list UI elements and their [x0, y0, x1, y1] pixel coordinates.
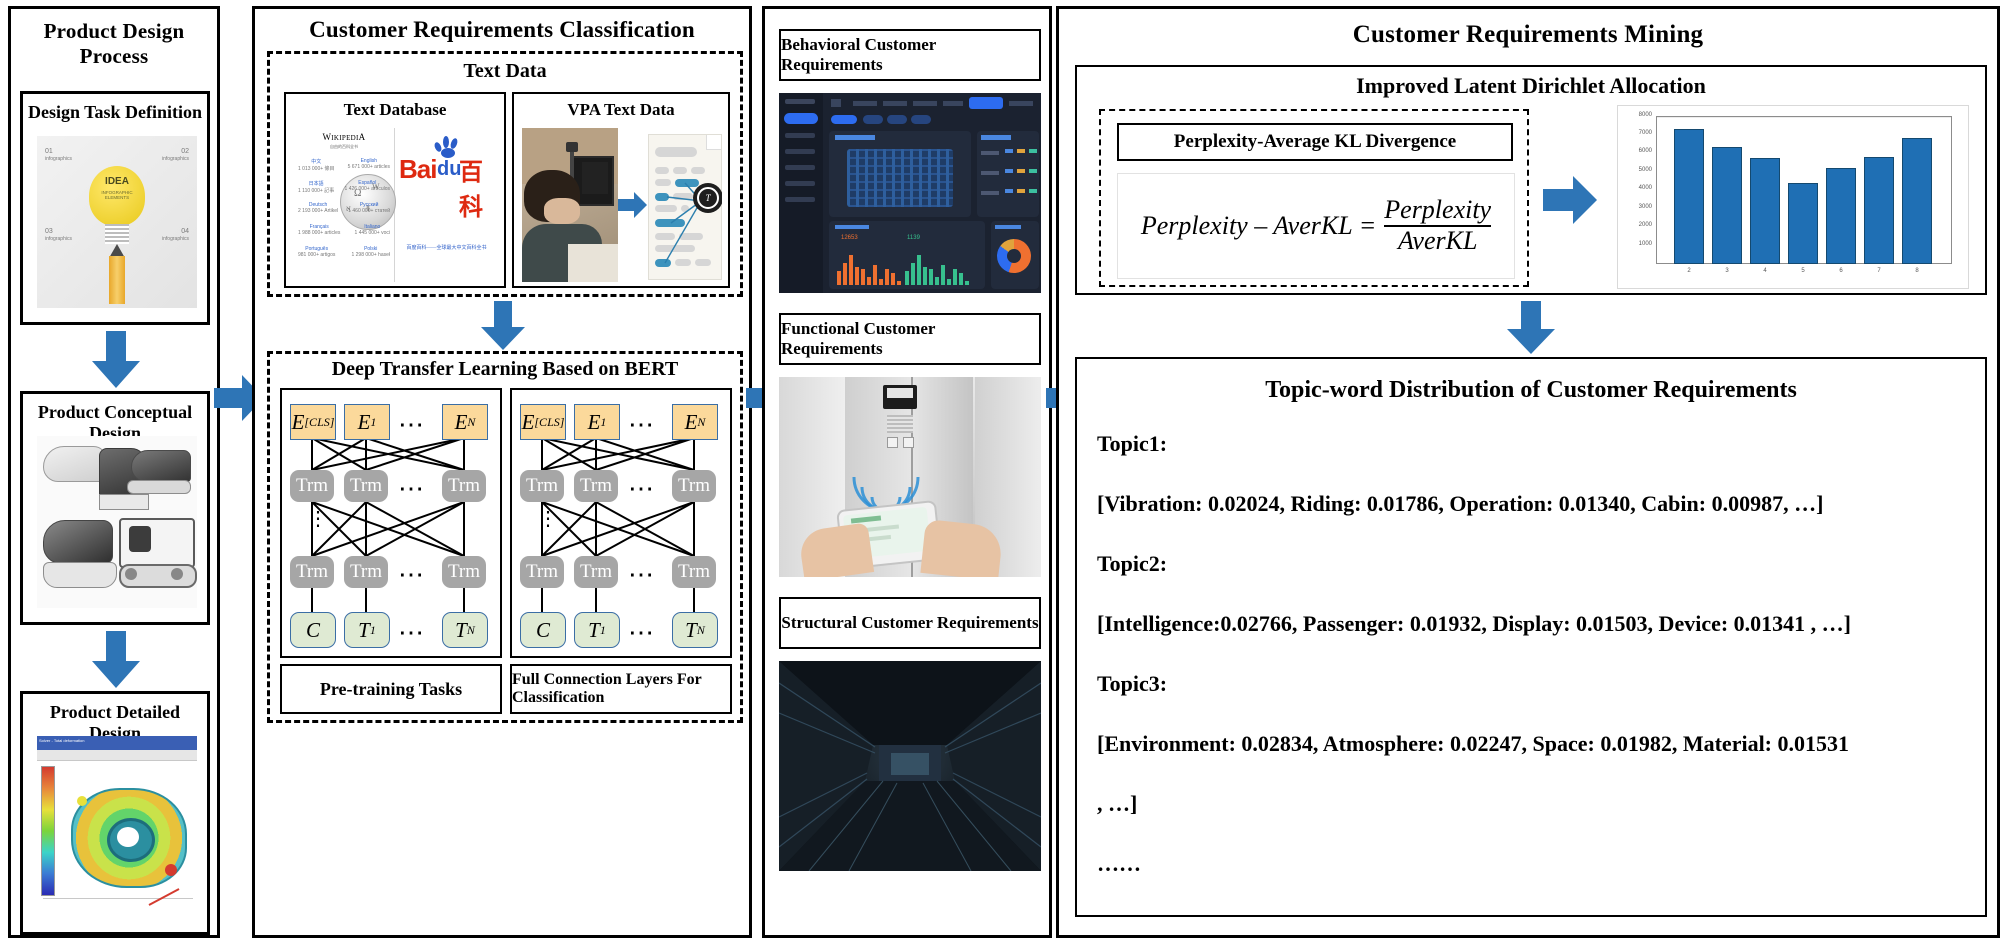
- group-improved-lda: Improved Latent Dirichlet Allocation Per…: [1075, 65, 1987, 295]
- bert-input-1-left: E1: [344, 404, 390, 440]
- panel-title-customer-requirements-classification: Customer Requirements Classification: [255, 17, 749, 43]
- bert-output-label: T: [358, 618, 370, 643]
- chart-gridline: [1657, 117, 1951, 118]
- panel-product-design-process: Product Design Process Design Task Defin…: [8, 6, 220, 938]
- chart-perplexity-averkl: 8000 7000 6000 5000 4000 3000 2000 1000 …: [1617, 105, 1969, 289]
- bert-input-cls-right: E[CLS]: [520, 404, 566, 440]
- step-product-conceptual-design: Product Conceptual Design: [20, 391, 210, 625]
- bert-block-pretraining: E[CLS] E1 ⋯ EN Trm Trm ⋯ Trm ⋮ Trm Trm ⋯…: [280, 388, 502, 658]
- chart-xtick: 8: [1902, 268, 1932, 274]
- chart-xtick: 7: [1864, 268, 1894, 274]
- chart-bar: [1864, 157, 1894, 264]
- arrow-right-formula-to-chart: [1543, 173, 1599, 227]
- chart-xtick: 5: [1788, 268, 1818, 274]
- bert-vertical-ellipsis-left: ⋮: [308, 516, 328, 523]
- bert-input-label: E: [588, 410, 601, 435]
- bert-output-c-left: C: [290, 612, 336, 648]
- bert-input-n-left: EN: [442, 404, 488, 440]
- chart-ytick: 1000: [1624, 241, 1652, 247]
- bert-output-ellipsis-left: ⋯: [398, 620, 427, 646]
- panel-requirement-types: Behavioral Customer Requirements: [762, 6, 1052, 938]
- bert-output-sub: 1: [370, 623, 376, 638]
- chart-bar: [1902, 138, 1932, 264]
- topic-body: [Intelligence:0.02766, Passenger: 0.0193…: [1097, 611, 1969, 637]
- image-wikipedia-baidu-baike-logos: WIKIPEDIA 自由的百科全书 Ω W Ⅱ א 中文1 013 000+ 條…: [294, 128, 498, 282]
- chart-xtick: 2: [1674, 268, 1704, 274]
- image-elevator-door-with-smartphone-call: [779, 377, 1041, 577]
- bert-output-sub: N: [467, 623, 475, 638]
- bert-input-1-right: E1: [574, 404, 620, 440]
- group-title-improved-lda: Improved Latent Dirichlet Allocation: [1077, 73, 1985, 99]
- chart-xtick: 4: [1750, 268, 1780, 274]
- step-label-design-task-definition: Design Task Definition: [23, 102, 207, 123]
- group-deep-transfer-learning-bert: Deep Transfer Learning Based on BERT: [267, 351, 743, 723]
- group-topic-word-distribution: Topic-word Distribution of Customer Requ…: [1075, 357, 1987, 917]
- topic-heading: Topic1:: [1097, 431, 1969, 457]
- topic-body: [Vibration: 0.02024, Riding: 0.01786, Op…: [1097, 491, 1969, 517]
- bert-output-t1-left: T1: [344, 612, 390, 648]
- step-design-task-definition: Design Task Definition 01infographics 02…: [20, 91, 210, 325]
- image-excavator-concept-sketches: [37, 436, 197, 608]
- bert-trm-row1-coln-right: Trm: [672, 470, 716, 502]
- chart-ytick: 8000: [1624, 112, 1652, 118]
- chart-bar: [1750, 158, 1780, 264]
- figure-canvas: Product Design Process Design Task Defin…: [0, 0, 2007, 944]
- bert-trm-row2-col2-left: Trm: [344, 556, 388, 588]
- topic-list: Topic1: [Vibration: 0.02024, Riding: 0.0…: [1097, 431, 1969, 877]
- arrow-down-2: [88, 631, 144, 689]
- bert-output-label: C: [306, 618, 320, 643]
- bert-trm-row2-col1-left: Trm: [290, 556, 334, 588]
- bert-output-t1-right: T1: [574, 612, 620, 648]
- image-dark-analytics-dashboard: 12653 1139: [779, 93, 1041, 293]
- bert-output-tn-left: TN: [442, 612, 488, 648]
- topic-body: [Environment: 0.02834, Atmosphere: 0.022…: [1097, 731, 1969, 757]
- formula-left-side: Perplexity – AverKL =: [1141, 211, 1376, 241]
- bert-input-label: E: [292, 410, 305, 435]
- topic-heading: Topic3:: [1097, 671, 1969, 697]
- bert-input-sub: N: [467, 415, 475, 430]
- bert-trm-row1-col2-left: Trm: [344, 470, 388, 502]
- chart-xtick: 6: [1826, 268, 1856, 274]
- bert-output-label: T: [455, 618, 467, 643]
- arrow-down-1: [88, 331, 144, 389]
- chart-bar: [1826, 168, 1856, 264]
- bert-input-cls-left: E[CLS]: [290, 404, 336, 440]
- bert-trm-row1-ellipsis-right: ⋯: [628, 476, 657, 502]
- bert-input-label: E: [455, 410, 468, 435]
- bert-trm-row2-coln-right: Trm: [672, 556, 716, 588]
- formula-denominator: AverKL: [1398, 227, 1477, 256]
- gear-icon: T: [693, 183, 722, 213]
- chart-bar: [1788, 183, 1818, 264]
- group-title-bert: Deep Transfer Learning Based on BERT: [270, 358, 740, 381]
- bert-trm-row1-col2-right: Trm: [574, 470, 618, 502]
- bert-output-c-right: C: [520, 612, 566, 648]
- bert-input-sub: 1: [600, 415, 606, 430]
- bert-output-tn-right: TN: [672, 612, 718, 648]
- panel-title-product-design-process: Product Design Process: [11, 19, 217, 69]
- group-title-topic-word-distribution: Topic-word Distribution of Customer Requ…: [1077, 377, 1985, 404]
- bert-output-sub: 1: [600, 623, 606, 638]
- image-dark-corridor-interior: [779, 661, 1041, 871]
- chart-bar: [1712, 147, 1742, 264]
- bert-output-label: T: [588, 618, 600, 643]
- step-product-detailed-design: Product Detailed Design Solver - Total d…: [20, 691, 210, 935]
- panel-customer-requirements-mining: Customer Requirements Mining Improved La…: [1056, 6, 2000, 938]
- bert-footer-pretraining-tasks: Pre-training Tasks: [280, 664, 502, 714]
- bert-output-sub: N: [697, 623, 705, 638]
- bert-output-label: C: [536, 618, 550, 643]
- bert-trm-row2-coln-left: Trm: [442, 556, 486, 588]
- formula-perplexity-averkl: Perplexity – AverKL = Perplexity AverKL: [1117, 173, 1515, 279]
- card-vpa-text-data: VPA Text Data: [512, 92, 730, 288]
- chart-ytick: 5000: [1624, 167, 1652, 173]
- bert-input-label: E: [522, 410, 535, 435]
- bert-output-label: T: [685, 618, 697, 643]
- bert-input-ellipsis-left: ⋯: [398, 412, 427, 438]
- bert-trm-row2-col2-right: Trm: [574, 556, 618, 588]
- label-structural-customer-requirements: Structural Customer Requirements: [779, 597, 1041, 649]
- topic-ellipsis: ……: [1097, 851, 1969, 877]
- bert-block-classification: E[CLS] E1 ⋯ EN Trm Trm ⋯ Trm ⋮ Trm Trm ⋯…: [510, 388, 732, 658]
- group-perplexity-formula: Perplexity-Average KL Divergence Perplex…: [1099, 109, 1529, 287]
- topic-heading: Topic2:: [1097, 551, 1969, 577]
- bert-input-label: E: [358, 410, 371, 435]
- bert-trm-row2-col1-right: Trm: [520, 556, 564, 588]
- label-functional-customer-requirements: Functional Customer Requirements: [779, 313, 1041, 365]
- card-label-vpa-text-data: VPA Text Data: [514, 100, 728, 120]
- bert-input-sub: [CLS]: [534, 415, 564, 430]
- chart-ytick: 2000: [1624, 222, 1652, 228]
- topic-body-continuation: , …]: [1097, 791, 1969, 817]
- bert-input-label: E: [685, 410, 698, 435]
- chart-bar: [1674, 129, 1704, 264]
- bert-input-sub: [CLS]: [304, 415, 334, 430]
- formula-numerator: Perplexity: [1384, 196, 1491, 225]
- bert-input-n-right: EN: [672, 404, 718, 440]
- chart-ytick: 4000: [1624, 185, 1652, 191]
- image-idea-lightbulb-infographic: 01infographics 02infographics 03infograp…: [37, 136, 197, 308]
- bert-trm-row1-coln-left: Trm: [442, 470, 486, 502]
- arrow-down-text-to-bert: [477, 301, 529, 351]
- bert-footer-full-connection-layers: Full Connection Layers For Classificatio…: [510, 664, 732, 714]
- panel-customer-requirements-classification: Customer Requirements Classification Tex…: [252, 6, 752, 938]
- label-perplexity-average-kl-divergence: Perplexity-Average KL Divergence: [1117, 123, 1513, 161]
- group-text-data: Text Data Text Database WIKIPEDIA 自由的百科全…: [267, 51, 743, 297]
- bert-input-sub: 1: [370, 415, 376, 430]
- card-label-text-database: Text Database: [286, 100, 504, 120]
- bert-input-sub: N: [697, 415, 705, 430]
- card-text-database: Text Database WIKIPEDIA 自由的百科全书 Ω W Ⅱ א …: [284, 92, 506, 288]
- bert-trm-row2-ellipsis-left: ⋯: [398, 562, 427, 588]
- image-person-at-desk-and-document-extraction: T: [522, 128, 722, 282]
- image-fea-stress-analysis-colormap: Solver - Total deformation: [37, 736, 197, 918]
- panel-title-customer-requirements-mining: Customer Requirements Mining: [1059, 21, 1997, 49]
- bert-trm-row1-ellipsis-left: ⋯: [398, 476, 427, 502]
- chart-ytick: 6000: [1624, 148, 1652, 154]
- bert-output-ellipsis-right: ⋯: [628, 620, 657, 646]
- label-behavioral-customer-requirements: Behavioral Customer Requirements: [779, 29, 1041, 81]
- bert-trm-row2-ellipsis-right: ⋯: [628, 562, 657, 588]
- chart-ytick: 3000: [1624, 204, 1652, 210]
- bert-input-ellipsis-right: ⋯: [628, 412, 657, 438]
- bert-trm-row1-col1-left: Trm: [290, 470, 334, 502]
- chart-xtick: 3: [1712, 268, 1742, 274]
- bert-trm-row1-col1-right: Trm: [520, 470, 564, 502]
- chart-ytick: 7000: [1624, 130, 1652, 136]
- group-title-text-data: Text Data: [270, 60, 740, 83]
- bert-vertical-ellipsis-right: ⋮: [538, 516, 558, 523]
- arrow-down-lda-to-topics: [1503, 301, 1559, 355]
